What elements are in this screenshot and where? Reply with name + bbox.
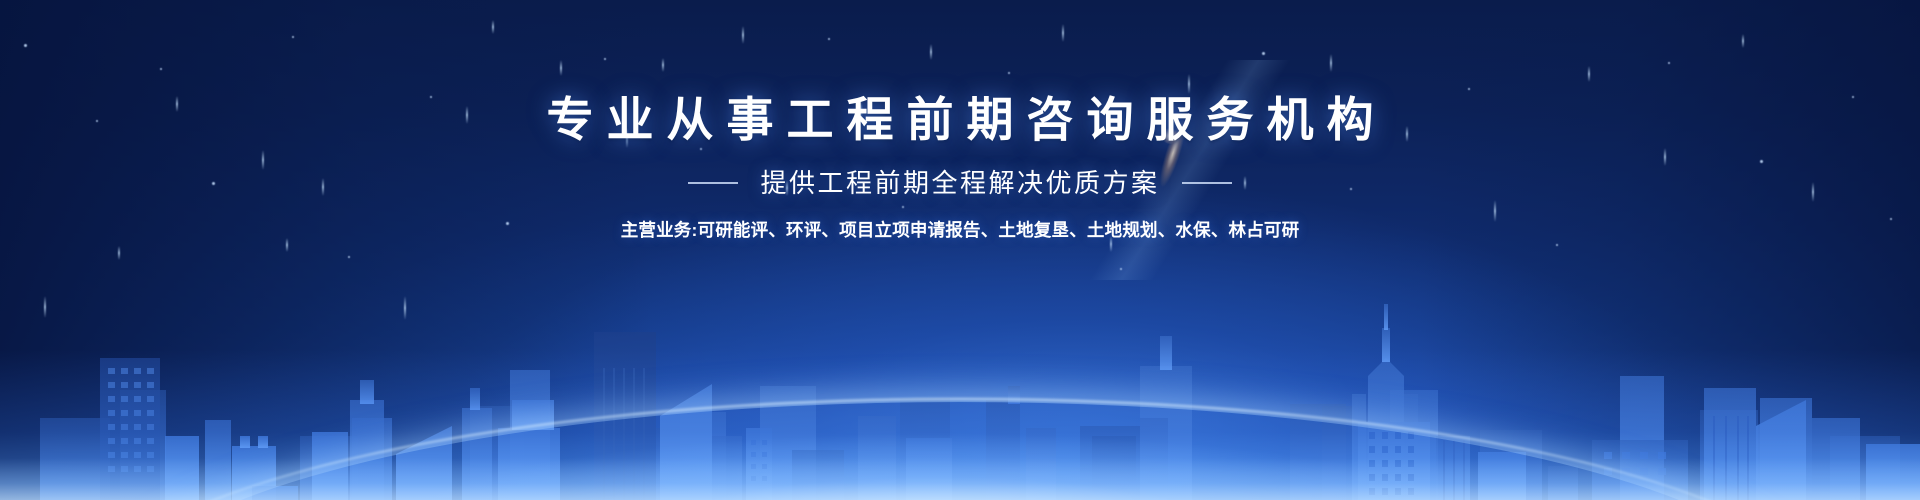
banner-subtitle: 提供工程前期全程解决优质方案 xyxy=(760,170,1159,196)
hero-banner: 专业从事工程前期咨询服务机构 提供工程前期全程解决优质方案 主营业务:可研能评、… xyxy=(0,0,1920,500)
divider-dash-right-icon xyxy=(1182,182,1232,184)
banner-business-line: 主营业务:可研能评、环评、项目立项申请报告、土地复垦、土地规划、水保、林占可研 xyxy=(0,222,1920,240)
city-skyline-silhouette xyxy=(0,240,1920,500)
divider-dash-left-icon xyxy=(688,182,738,184)
banner-subtitle-row: 提供工程前期全程解决优质方案 xyxy=(0,170,1920,196)
banner-headline: 专业从事工程前期咨询服务机构 xyxy=(0,96,1920,143)
banner-content: 专业从事工程前期咨询服务机构 提供工程前期全程解决优质方案 主营业务:可研能评、… xyxy=(0,96,1920,240)
